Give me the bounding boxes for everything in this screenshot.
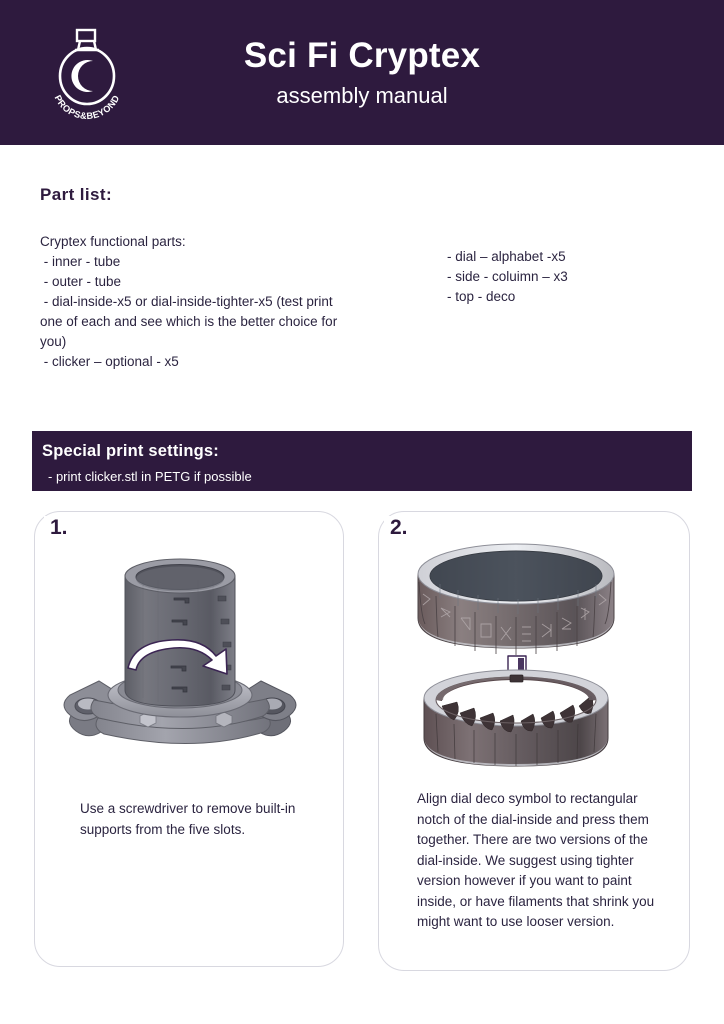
special-print-settings-heading: Special print settings:: [42, 440, 692, 462]
part-list-item: Cryptex functional parts:: [40, 232, 350, 252]
header-title-block: Sci Fi Cryptex assembly manual: [0, 34, 724, 111]
step-1-caption: Use a screwdriver to remove built-in sup…: [80, 799, 320, 840]
step-number-2: 2.: [384, 516, 415, 540]
part-list-item: - clicker – optional - x5: [40, 352, 350, 372]
part-list-item: - top - deco: [447, 287, 697, 307]
part-list-right-column: - dial – alphabet -x5 - side - coluimn –…: [447, 247, 697, 307]
page-title: Sci Fi Cryptex: [0, 34, 724, 78]
part-list-item: - inner - tube: [40, 252, 350, 272]
inner-tube-with-base-and-rotate-arrow: [48, 540, 330, 780]
page-header: PROPS&BEYOND Sci Fi Cryptex assembly man…: [0, 0, 724, 145]
part-list-item: - outer - tube: [40, 272, 350, 292]
part-list-item: - side - coluimn – x3: [447, 267, 697, 287]
part-list-item: - dial – alphabet -x5: [447, 247, 697, 267]
special-print-settings-bar: Special print settings: - print clicker.…: [32, 431, 692, 491]
part-list-left-column: Cryptex functional parts: - inner - tube…: [40, 232, 350, 372]
page-subtitle: assembly manual: [0, 81, 724, 111]
special-print-settings-item: - print clicker.stl in PETG if possible: [42, 467, 692, 487]
part-list-item: - dial-inside-x5 or dial-inside-tighter-…: [40, 292, 350, 352]
step-2-caption: Align dial deco symbol to rectangular no…: [417, 789, 661, 933]
alphabet-dial-ring-above-dial-inside-ring: [392, 538, 676, 778]
part-list-heading: Part list:: [40, 185, 112, 205]
step-number-1: 1.: [44, 516, 75, 540]
